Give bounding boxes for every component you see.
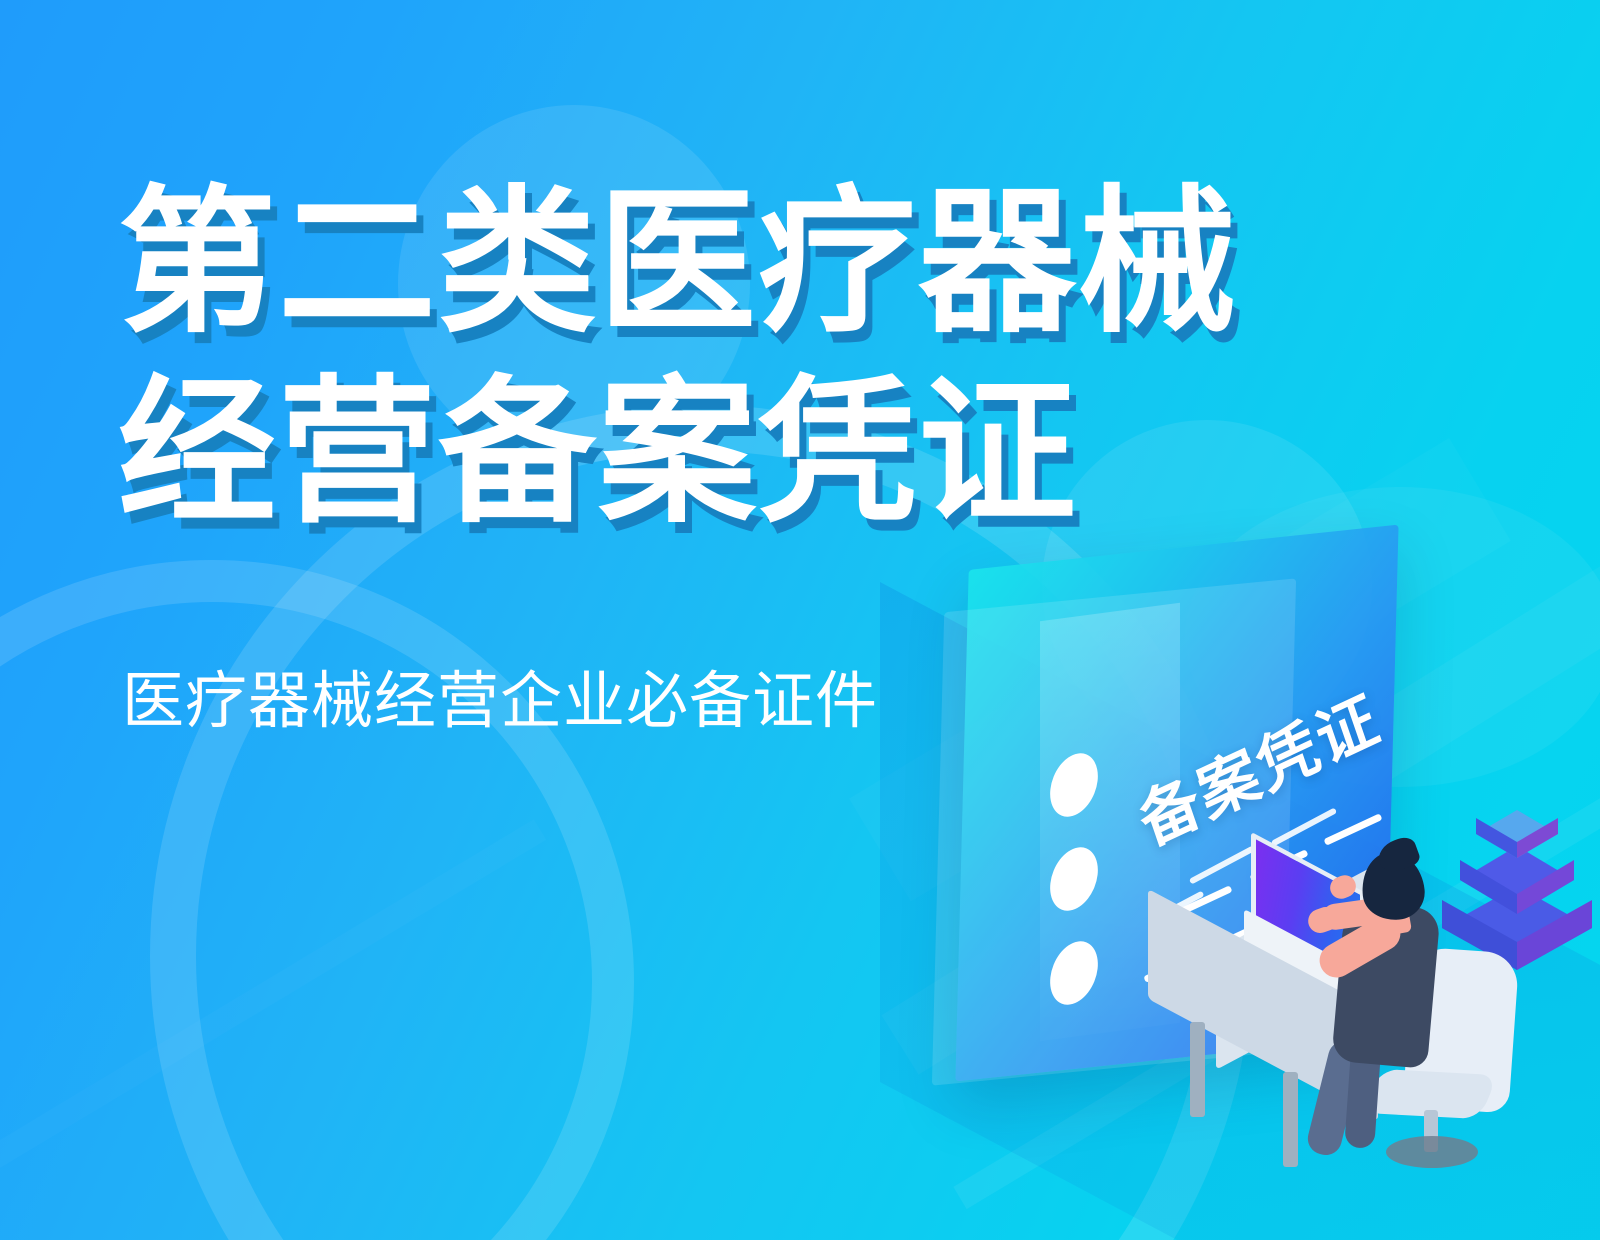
title-line-1: 第二类医疗器械 xyxy=(118,168,1238,358)
page-title: 第二类医疗器械 经营备案凭证 xyxy=(118,168,1238,548)
poster-canvas: 备案凭证 xyxy=(0,0,1600,1240)
title-line-2: 经营备案凭证 xyxy=(118,358,1238,548)
desk-leg xyxy=(1283,1072,1298,1167)
office-chair-base xyxy=(1386,1136,1478,1168)
desk-leg xyxy=(1190,1022,1205,1117)
page-subtitle: 医疗器械经营企业必备证件 xyxy=(122,663,878,741)
stacked-boxes-icon xyxy=(1432,790,1600,970)
